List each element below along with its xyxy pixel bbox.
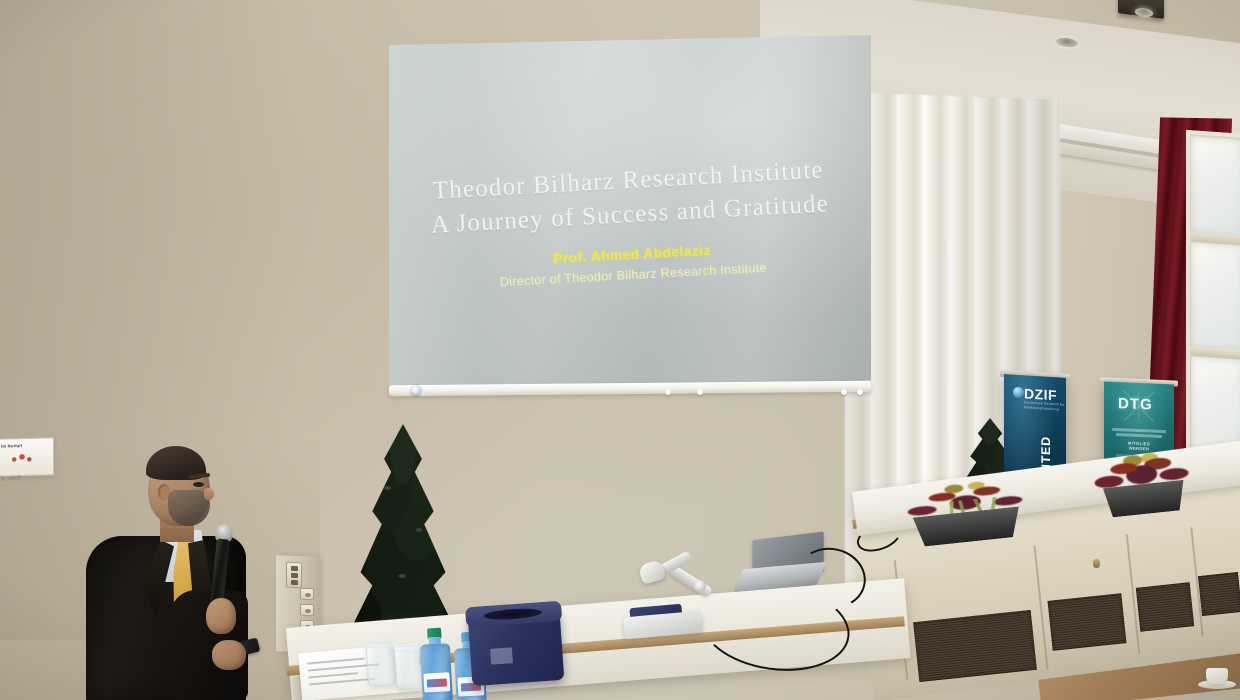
tree-highlight: [416, 528, 422, 532]
coffee-cup: [1206, 668, 1228, 684]
hand-holding-microphone: [206, 598, 236, 634]
counter-vent-grille: [1136, 582, 1194, 631]
navy-box-logo-icon: [490, 645, 545, 665]
eye: [193, 482, 204, 487]
document-camera-joint[interactable]: [694, 580, 706, 592]
screen-bar-marker: [665, 389, 671, 395]
socket-hole-icon: [305, 593, 311, 597]
wall-sign-caption: Im Notfall: [1, 443, 22, 449]
power-socket[interactable]: [300, 588, 314, 600]
tree-foliage: [344, 424, 462, 642]
tree-highlight: [398, 574, 406, 578]
hand-holding-phone: [212, 640, 246, 670]
screen-bar-marker: [697, 389, 703, 395]
tree-highlight: [384, 486, 391, 490]
screen-bar-marker: [841, 389, 847, 395]
socket-hole-icon: [305, 609, 311, 613]
paper-text-line: [307, 658, 365, 665]
counter-vent-grille: [913, 610, 1037, 682]
conference-photo-scene: Theodor Bilharz Research Institute A Jou…: [0, 0, 1240, 700]
projected-slide-content: Theodor Bilharz Research Institute A Jou…: [380, 22, 881, 406]
christmas-tree: [344, 424, 462, 642]
dzif-logo-icon: [1013, 387, 1024, 399]
nose: [204, 488, 214, 500]
screen-bar-marker: [857, 389, 863, 395]
power-socket[interactable]: [300, 604, 314, 616]
navy-conference-box: [468, 610, 565, 686]
window-frame: [1186, 130, 1240, 486]
water-bottle: [419, 627, 453, 700]
projection-screen: Theodor Bilharz Research Institute A Jou…: [389, 35, 871, 393]
wall-notice-sign: Im Notfall: [0, 437, 54, 477]
screen-bar-knob: [411, 385, 421, 395]
counter-vent-grille: [1048, 593, 1127, 650]
window-pane: [1191, 136, 1240, 236]
counter-cabinet-knob[interactable]: [1093, 559, 1100, 568]
bottle-label-graphic: [427, 678, 447, 687]
wall-sign-handwriting: Dr. med.: [0, 473, 22, 482]
counter-vent-grille: [1198, 572, 1240, 616]
paper-text-line: [309, 678, 375, 686]
window-pane: [1191, 242, 1240, 350]
paper-text-line: [308, 672, 358, 678]
counter-planter: [1098, 466, 1190, 519]
wall-sign-graphic: [9, 452, 35, 465]
dtg-text-line: [1116, 433, 1162, 438]
dtg-wordmark: DTG: [1118, 395, 1153, 414]
speaker-person: [96, 440, 296, 700]
dtg-text-line: [1112, 428, 1166, 433]
